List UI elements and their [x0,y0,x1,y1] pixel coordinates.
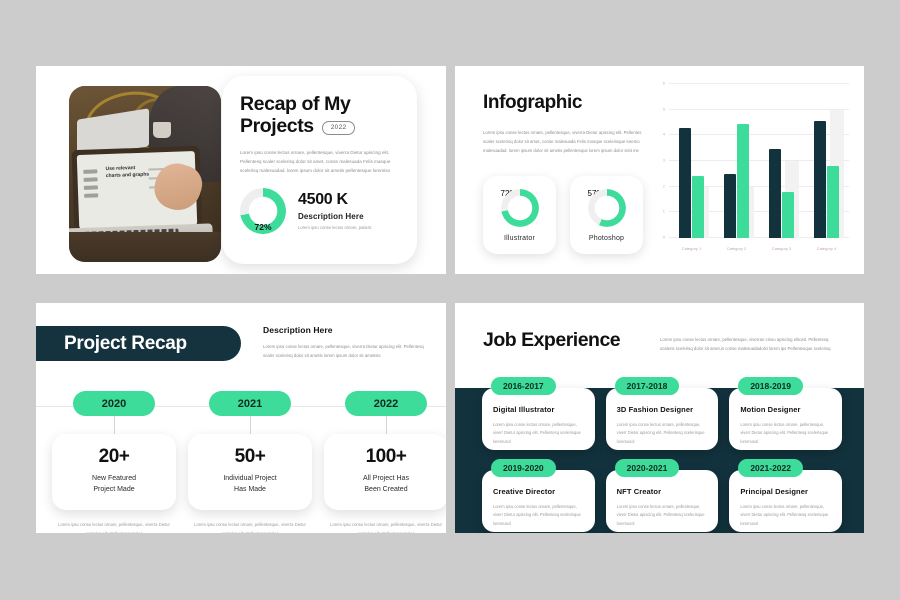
stat-number: 4500 K [298,191,373,209]
description-heading: Description Here [263,325,428,335]
job-role: 3D Fashion Designer [617,405,708,414]
chart-x-axis-labels: Category 1Category 2Category 3Category 4 [669,240,849,256]
description-body: Lorem ipsu conse lectus ornare, pellente… [263,342,428,361]
skill-label-photoshop: Photoshop [589,235,624,242]
chart-category-label: Category 2 [717,246,757,251]
timeline-connector [250,416,251,434]
timeline-caption: All Project HasBeen Created [332,474,440,495]
project-recap-banner: Project Recap [36,326,241,361]
chart-bar-dark[interactable] [679,128,691,238]
job-period-badge: 2018-2019 [738,377,803,395]
bar-chart: 0123456 Category 1Category 2Category 3Ca… [653,84,849,256]
timeline-connector [386,416,387,434]
job-card[interactable]: 2020-2021NFT CreatorLorem ipsu conse lec… [606,459,719,532]
timeline-card: 50+Individual ProjectHas Made [188,434,312,510]
stat-description: Description Here [298,212,373,221]
job-card-body: Motion DesignerLorem ipsu conse lectus o… [729,388,842,450]
job-experience-body-text: Lorem ipsu conse lectus ornare, pellente… [660,335,838,354]
chart-plot-area [669,84,849,238]
stat-block: 4500 K Description Here Lorem ipsu conse… [298,191,373,230]
job-period-badge: 2016-2017 [491,377,556,395]
skill-card-illustrator[interactable]: 72% Illustrator [483,176,556,254]
donut-illustrator [501,189,539,227]
job-description: Lorem ipsu conse lectus ornare, pellente… [617,503,708,528]
job-description: Lorem ipsu conse lectus ornare, pellente… [493,503,584,528]
glass-cup [153,122,171,138]
timeline-card: 100+All Project HasBeen Created [324,434,446,510]
job-description: Lorem ipsu conse lectus ornare, pellente… [617,421,708,446]
chart-y-tick-label: 0 [663,235,665,240]
job-role: Motion Designer [740,405,831,414]
chart-bar-dark[interactable] [814,121,826,238]
chart-y-tick-label: 1 [663,209,665,214]
project-recap-banner-title: Project Recap [64,333,187,355]
timeline-note: Lorem ipsu conse lectus ornare, pellente… [188,521,312,533]
slide-job-experience[interactable]: Job Experience Lorem ipsu conse lectus o… [455,303,864,533]
job-description: Lorem ipsu conse lectus ornare, pellente… [740,421,831,446]
chart-y-tick-label: 2 [663,183,665,188]
timeline-caption: Individual ProjectHas Made [196,474,304,495]
chart-bar-green[interactable] [827,166,839,238]
skill-cards: 72% Illustrator 57% Photoshop [483,176,643,254]
chart-category-label: Category 3 [762,246,802,251]
chart-bar-group [672,84,712,238]
timeline-connector [114,416,115,434]
job-card[interactable]: 2018-2019Motion DesignerLorem ipsu conse… [729,377,842,450]
job-card-body: Creative DirectorLorem ipsu conse lectus… [482,470,595,532]
recap-body-text: Lorem ipsu conse lectus ornare, pellente… [240,148,403,176]
project-photo: Use relevant charts and graphs [69,86,221,262]
screen-sidebar [83,169,98,201]
slide-recap-of-my-projects[interactable]: Use relevant charts and graphs Recap of … [36,66,446,274]
job-description: Lorem ipsu conse lectus ornare, pellente… [493,421,584,446]
job-role: Digital Illustrator [493,405,584,414]
timeline-count: 100+ [332,446,440,468]
timeline-milestone[interactable]: 202020+New FeaturedProject MadeLorem ips… [52,391,176,533]
slide-infographic[interactable]: Infographic Lorem ipsu conse lectus orna… [455,66,864,274]
chart-y-tick-label: 5 [663,106,665,111]
job-card-body: NFT CreatorLorem ipsu conse lectus ornar… [606,470,719,532]
timeline-note: Lorem ipsu conse lectus ornare, pellente… [324,521,446,533]
chart-bar-group [717,84,757,238]
job-cards-grid: 2016-2017Digital IllustratorLorem ipsu c… [482,377,842,532]
infographic-title: Infographic [483,92,582,114]
project-recap-description: Description Here Lorem ipsu conse lectus… [263,325,428,361]
screen-headline: Use relevant charts and graphs [105,164,150,180]
job-period-badge: 2021-2022 [738,459,803,477]
chart-bar-green[interactable] [737,124,749,238]
infographic-body-text: Lorem ipsu conse lectus ornare, pellente… [483,128,643,156]
chart-bar-group [807,84,847,238]
donut-photoshop [588,189,626,227]
chart-category-label: Category 4 [807,246,847,251]
job-role: NFT Creator [617,487,708,496]
chart-bar-green[interactable] [692,176,704,238]
job-card[interactable]: 2021-2022Principal DesignerLorem ipsu co… [729,459,842,532]
donut-percent-label: 72% [240,204,286,250]
timeline-year-badge[interactable]: 2021 [209,391,291,416]
timeline: 202020+New FeaturedProject MadeLorem ips… [36,391,446,531]
chart-bar-dark[interactable] [724,174,736,238]
chart-bar-dark[interactable] [769,149,781,238]
recap-title-line1: Recap of My [240,94,401,116]
job-role: Creative Director [493,487,584,496]
chart-y-tick-label: 6 [663,81,665,86]
skill-label-illustrator: Illustrator [504,235,535,242]
timeline-card: 20+New FeaturedProject Made [52,434,176,510]
chart-y-tick-label: 3 [663,158,665,163]
timeline-note: Lorem ipsu conse lectus ornare, pellente… [52,521,176,533]
timeline-caption: New FeaturedProject Made [60,474,168,495]
slide-project-recap[interactable]: Project Recap Description Here Lorem ips… [36,303,446,533]
timeline-year-badge[interactable]: 2020 [73,391,155,416]
chart-bar-green[interactable] [782,192,794,238]
slide-preview-grid: Use relevant charts and graphs Recap of … [0,0,900,600]
year-badge: 2022 [322,121,356,135]
job-card-body: Principal DesignerLorem ipsu conse lectu… [729,470,842,532]
skill-card-photoshop[interactable]: 57% Photoshop [570,176,643,254]
timeline-milestone[interactable]: 202150+Individual ProjectHas MadeLorem i… [188,391,312,533]
donut-chart-72-label-wrap: 72% [240,204,286,250]
job-period-badge: 2019-2020 [491,459,556,477]
job-card[interactable]: 2016-2017Digital IllustratorLorem ipsu c… [482,377,595,450]
recap-title-line2: Projects [240,116,314,138]
chart-category-label: Category 1 [672,246,712,251]
job-role: Principal Designer [740,487,831,496]
job-description: Lorem ipsu conse lectus ornare, pellente… [740,503,831,528]
timeline-milestone[interactable]: 2022100+All Project HasBeen CreatedLorem… [324,391,446,533]
stat-subtext: Lorem ipsu conse lectus ornare, patient. [298,225,373,230]
job-period-badge: 2020-2021 [615,459,680,477]
job-card[interactable]: 2019-2020Creative DirectorLorem ipsu con… [482,459,595,532]
job-period-badge: 2017-2018 [615,377,680,395]
job-card-body: Digital IllustratorLorem ipsu conse lect… [482,388,595,450]
timeline-year-badge[interactable]: 2022 [345,391,427,416]
table-surface [69,232,221,262]
job-experience-title: Job Experience [483,329,620,352]
job-card[interactable]: 2017-20183D Fashion DesignerLorem ipsu c… [606,377,719,450]
timeline-count: 20+ [60,446,168,468]
job-card-body: 3D Fashion DesignerLorem ipsu conse lect… [606,388,719,450]
chart-y-tick-label: 4 [663,132,665,137]
timeline-count: 50+ [196,446,304,468]
chart-bar-group [762,84,802,238]
recap-content-card: Recap of My Projects 2022 Lorem ipsu con… [222,76,417,264]
